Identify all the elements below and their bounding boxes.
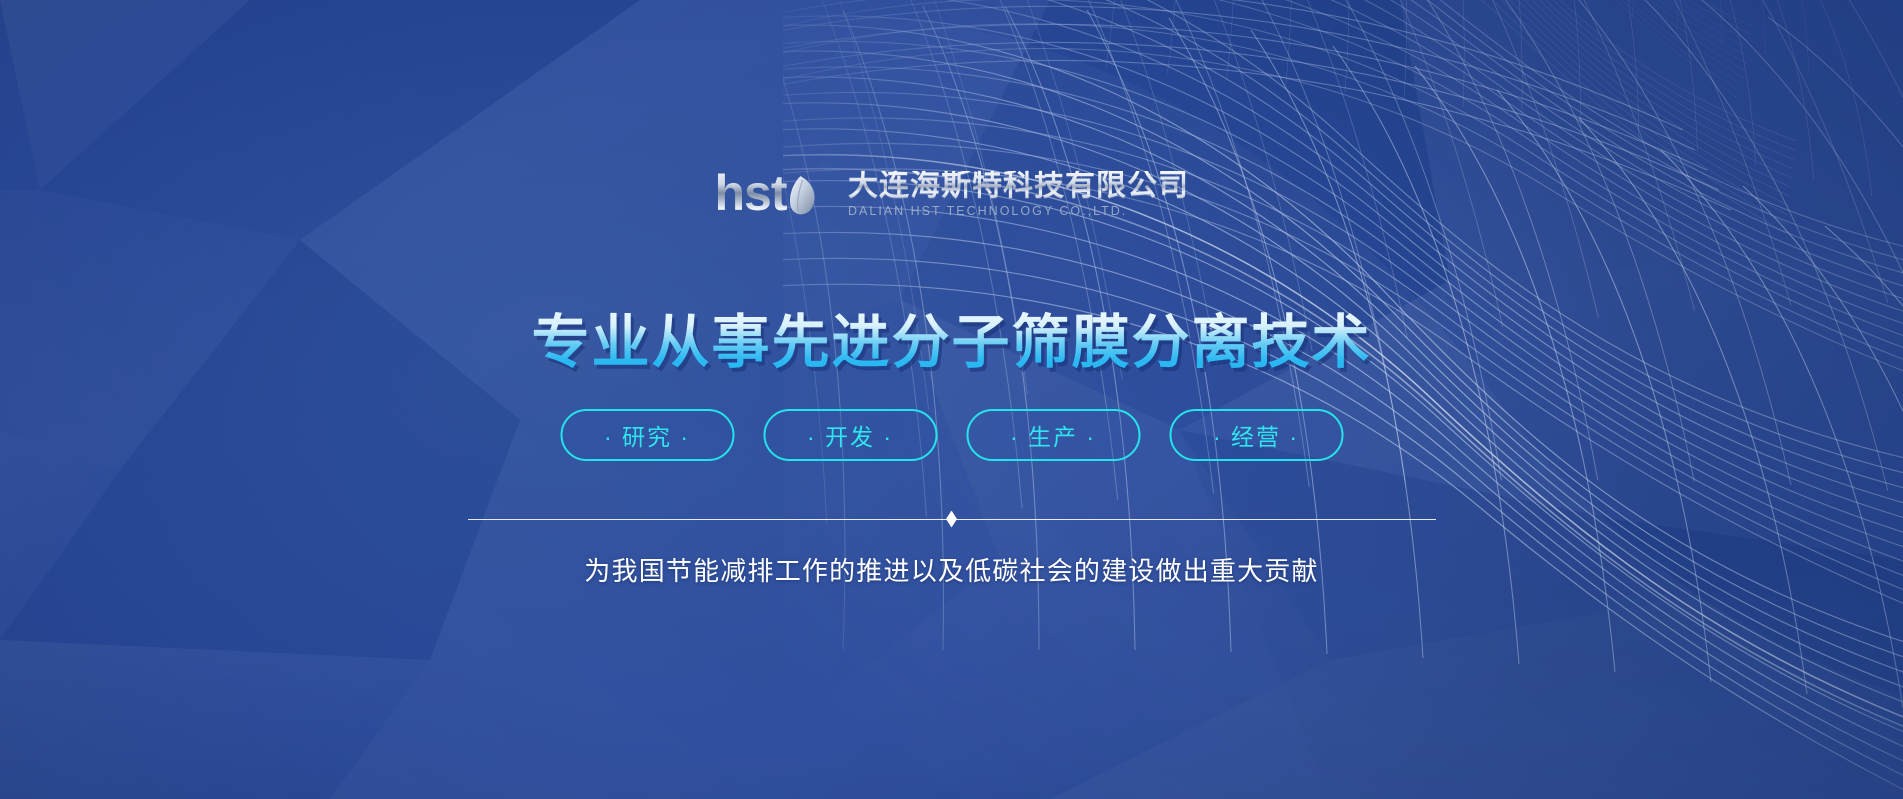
company-logo[interactable]: hst 大连海斯特科技有限公司 DALIAN HST TECHNOLOGY CO… (714, 166, 1189, 222)
hero-banner: hst 大连海斯特科技有限公司 DALIAN HST TECHNOLOGY CO… (0, 0, 1903, 799)
company-name-cn: 大连海斯特科技有限公司 (848, 171, 1189, 201)
banner-content: hst 大连海斯特科技有限公司 DALIAN HST TECHNOLOGY CO… (0, 0, 1903, 799)
hero-headline: 专业从事先进分子筛膜分离技术 (531, 307, 1371, 379)
pill-research[interactable]: · 研究 · (560, 409, 734, 461)
company-name-en: DALIAN HST TECHNOLOGY CO.,LTD. (848, 205, 1189, 218)
hero-subtitle: 为我国节能减排工作的推进以及低碳社会的建设做出重大贡献 (584, 553, 1318, 589)
section-divider (468, 510, 1436, 528)
svg-text:hst: hst (714, 168, 787, 220)
diamond-icon (946, 511, 957, 528)
pill-development[interactable]: · 开发 · (763, 409, 937, 461)
pill-operation[interactable]: · 经营 · (1169, 409, 1343, 461)
logo-text-block: 大连海斯特科技有限公司 DALIAN HST TECHNOLOGY CO.,LT… (848, 171, 1189, 218)
capability-pill-group: · 研究 · · 开发 · · 生产 · · 经营 · (560, 409, 1343, 461)
pill-production[interactable]: · 生产 · (966, 409, 1140, 461)
hst-leaf-logo-icon: hst (714, 168, 834, 220)
